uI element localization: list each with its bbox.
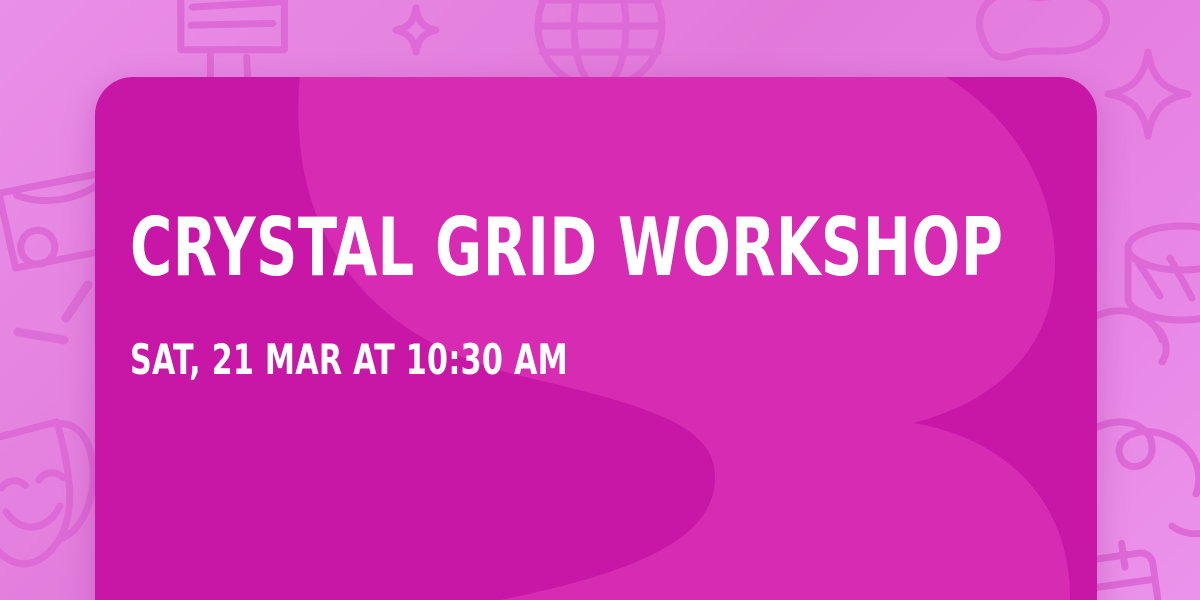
confetti-dash-icon bbox=[18, 285, 88, 340]
event-card[interactable]: CRYSTAL GRID WORKSHOP SAT, 21 MAR AT 10:… bbox=[95, 77, 1097, 600]
event-card-banner: CRYSTAL GRID WORKSHOP SAT, 21 MAR AT 10:… bbox=[0, 0, 1200, 600]
globe-icon bbox=[538, 0, 662, 88]
theater-masks-icon bbox=[0, 419, 102, 568]
sparkle-icon bbox=[1108, 52, 1188, 136]
drum-icon bbox=[1128, 226, 1200, 320]
event-date-time: SAT, 21 MAR AT 10:30 AM bbox=[130, 339, 568, 381]
star-icon bbox=[396, 8, 436, 52]
event-title: CRYSTAL GRID WORKSHOP bbox=[130, 208, 1003, 288]
